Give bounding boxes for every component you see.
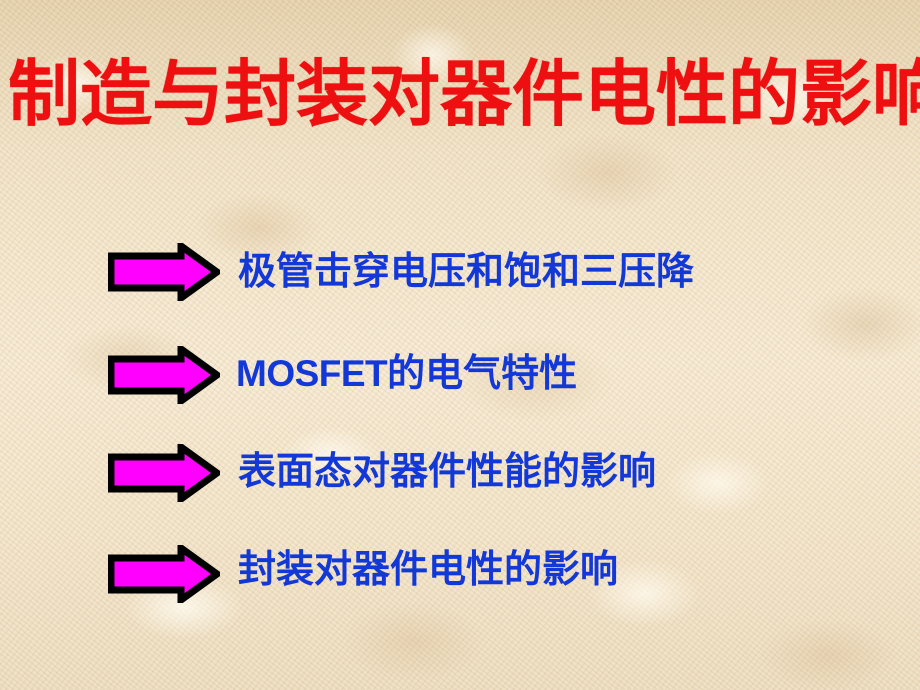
list-item-cjk: 表面态对器件性能的影响	[238, 448, 656, 493]
list-item-label: MOSFET的电气特性	[236, 342, 577, 405]
list-item-label: 封装对器件电性的影响	[238, 538, 618, 601]
list-item-cjk: 的电气特性	[387, 350, 577, 395]
right-arrow-icon	[108, 444, 220, 502]
list-item-cjk: 极管击穿电压和饱和三压降	[238, 248, 694, 293]
right-arrow-icon	[108, 545, 220, 603]
bullet-list: 极管击穿电压和饱和三压降 MOSFET的电气特性 表面态对器件性能的影响	[0, 238, 920, 638]
list-item[interactable]: 表面态对器件性能的影响	[0, 438, 920, 538]
list-item-label: 表面态对器件性能的影响	[238, 440, 656, 503]
right-arrow-icon	[108, 346, 220, 404]
right-arrow-icon	[108, 243, 220, 301]
page-title: 制造与封装对器件电性的影响	[8, 52, 912, 136]
list-item-cjk: 封装对器件电性的影响	[238, 546, 618, 591]
list-item[interactable]: 极管击穿电压和饱和三压降	[0, 238, 920, 338]
list-item-label: 极管击穿电压和饱和三压降	[238, 240, 694, 303]
slide-canvas: 制造与封装对器件电性的影响 极管击穿电压和饱和三压降 MOSFET的电气特性	[0, 0, 920, 690]
list-item[interactable]: MOSFET的电气特性	[0, 338, 920, 438]
list-item[interactable]: 封装对器件电性的影响	[0, 538, 920, 638]
list-item-latin: MOSFET	[236, 353, 387, 394]
